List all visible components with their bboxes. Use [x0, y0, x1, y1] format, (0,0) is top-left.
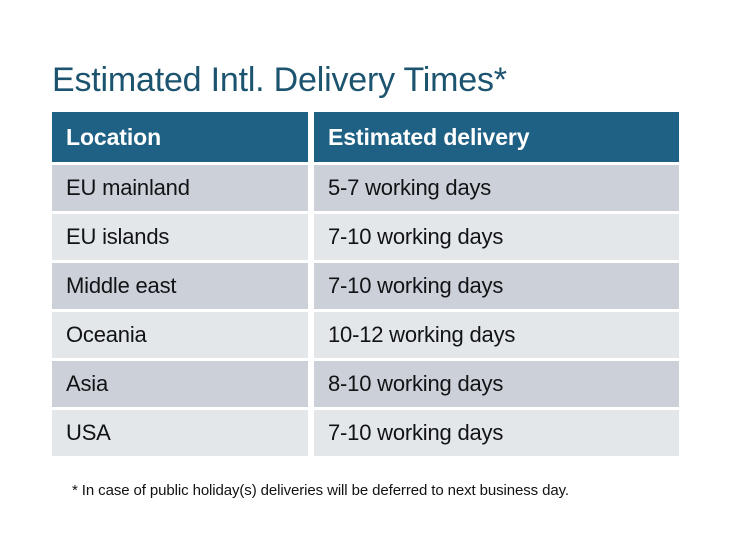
cell-estimate: 5-7 working days	[314, 165, 679, 211]
table-row: USA 7-10 working days	[52, 410, 679, 456]
table-row: Oceania 10-12 working days	[52, 312, 679, 358]
cell-estimate: 10-12 working days	[314, 312, 679, 358]
table-header-row: Location Estimated delivery	[52, 112, 679, 162]
cell-estimate: 7-10 working days	[314, 214, 679, 260]
cell-estimate: 8-10 working days	[314, 361, 679, 407]
table-row: EU islands 7-10 working days	[52, 214, 679, 260]
table-row: Middle east 7-10 working days	[52, 263, 679, 309]
cell-location: Middle east	[52, 263, 308, 309]
cell-estimate: 7-10 working days	[314, 263, 679, 309]
table-header: Location Estimated delivery	[52, 112, 679, 162]
cell-location: Asia	[52, 361, 308, 407]
column-header-estimated-delivery: Estimated delivery	[314, 112, 679, 162]
table-row: EU mainland 5-7 working days	[52, 165, 679, 211]
cell-location: EU mainland	[52, 165, 308, 211]
cell-location: EU islands	[52, 214, 308, 260]
page-title: Estimated Intl. Delivery Times*	[52, 61, 507, 100]
cell-location: Oceania	[52, 312, 308, 358]
cell-estimate: 7-10 working days	[314, 410, 679, 456]
delivery-times-table: Location Estimated delivery EU mainland …	[46, 109, 685, 459]
table-row: Asia 8-10 working days	[52, 361, 679, 407]
footnote: * In case of public holiday(s) deliverie…	[72, 482, 569, 499]
cell-location: USA	[52, 410, 308, 456]
column-header-location: Location	[52, 112, 308, 162]
table-body: EU mainland 5-7 working days EU islands …	[52, 165, 679, 456]
delivery-times-page: Estimated Intl. Delivery Times* Location…	[0, 0, 745, 536]
